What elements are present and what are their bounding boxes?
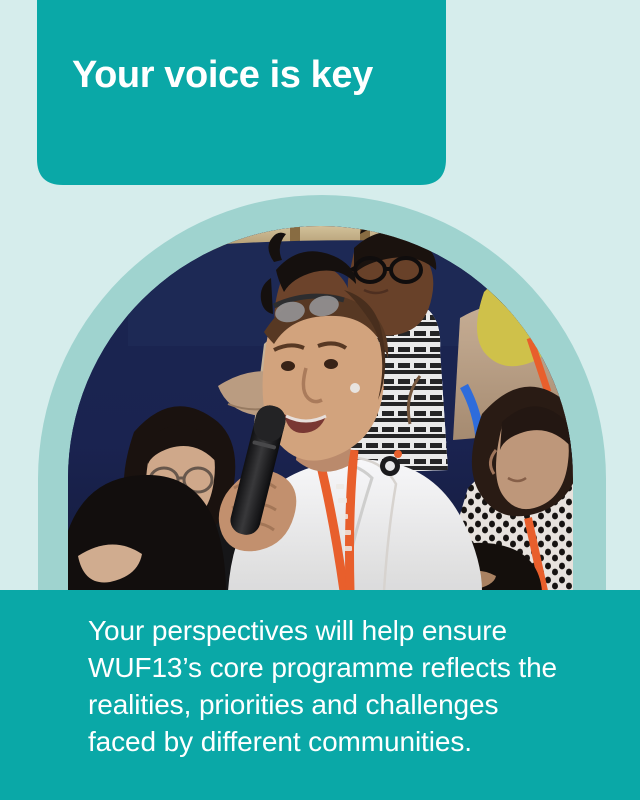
poster-canvas: Your voice is key Your perspectives will… bbox=[0, 0, 640, 800]
conference-audience-photo bbox=[68, 226, 573, 591]
photo-arch-frame bbox=[68, 226, 573, 591]
footer-line-2: WUF13’s core programme reflects the bbox=[88, 649, 598, 686]
footer-band: Your perspectives will help ensure WUF13… bbox=[0, 590, 640, 800]
footer-line-4: faced by different communities. bbox=[88, 723, 598, 760]
headline-text: Your voice is key bbox=[72, 56, 432, 94]
footer-line-1: Your perspectives will help ensure bbox=[88, 612, 598, 649]
speech-bubble: Your voice is key bbox=[37, 0, 446, 185]
footer-line-3: realities, priorities and challenges bbox=[88, 686, 598, 723]
footer-paragraph: Your perspectives will help ensure WUF13… bbox=[88, 612, 598, 760]
